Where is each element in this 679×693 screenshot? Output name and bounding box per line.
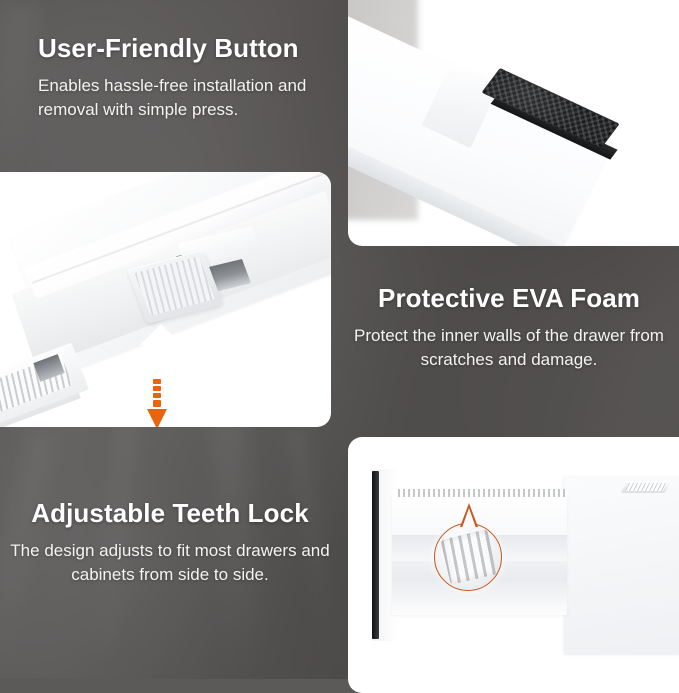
panel-title: Protective EVA Foam [349,283,669,314]
clip-ribs [625,483,667,491]
panel-title: Adjustable Teeth Lock [10,498,330,529]
panel-protective-eva-foam: Protective EVA Foam Protect the inner wa… [349,283,669,372]
photo-card-push-button [0,172,331,427]
divider-clip [621,481,671,493]
push-button-ribs [134,256,214,316]
infographic-canvas: User-Friendly Button Enables hassle-free… [0,0,679,679]
drawer-wall-foam-strip [372,471,379,639]
panel-description: Protect the inner walls of the drawer fr… [349,324,669,372]
panel-description: The design adjusts to fit most drawers a… [10,539,330,587]
panel-adjustable-teeth-lock: Adjustable Teeth Lock The design adjusts… [10,498,330,587]
magnifier-pointer-inner [462,508,476,528]
press-arrow-icon [146,379,168,427]
toothed-arm [0,343,89,427]
press-arrow-svg [146,379,168,427]
notch-pointer-up [140,324,182,345]
magnified-teeth [440,529,497,585]
panel-description: Enables hassle-free installation and rem… [38,74,328,122]
magnifier-callout [434,523,502,591]
photo-card-eva-foam [348,0,679,246]
divider-panel-right [564,477,679,655]
photo-card-teeth-lock [348,437,679,693]
panel-user-friendly-button: User-Friendly Button Enables hassle-free… [38,33,328,122]
product-illustration-push-button [0,172,331,427]
adjustable-teeth-row [398,489,568,497]
panel-title: User-Friendly Button [38,33,328,64]
